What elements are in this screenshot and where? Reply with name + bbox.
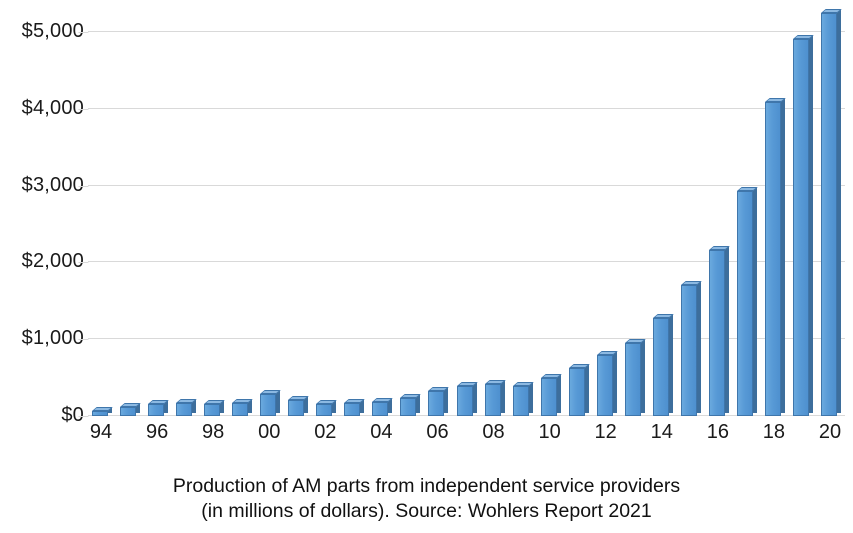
bar-side	[501, 381, 505, 413]
bar-face	[597, 355, 613, 416]
caption-line-2: (in millions of dollars). Source: Wohler…	[0, 499, 853, 524]
bar	[513, 381, 529, 416]
bar-face	[485, 384, 501, 416]
bar-face	[120, 407, 136, 416]
bar-face	[541, 378, 557, 416]
x-axis-tick-label: 98	[202, 420, 224, 444]
bar-series	[88, 8, 845, 418]
bar-face	[513, 386, 529, 416]
bar	[541, 373, 557, 416]
bar	[821, 8, 837, 416]
bar	[344, 398, 360, 416]
bar-face	[653, 318, 669, 416]
bar	[400, 393, 416, 416]
bar-face	[765, 102, 781, 416]
bar-face	[260, 394, 276, 416]
bar-side	[725, 247, 729, 413]
bar	[288, 395, 304, 416]
bar	[681, 280, 697, 416]
bar-face	[457, 386, 473, 416]
bar-side	[473, 383, 477, 413]
bar-side	[388, 399, 392, 413]
bar	[737, 186, 753, 416]
x-axis-tick-label: 12	[595, 420, 617, 444]
bar	[148, 399, 164, 416]
bar	[260, 389, 276, 416]
chart-figure: $0$1,000$2,000$3,000$4,000$5,000 9496980…	[0, 0, 853, 533]
bar-face	[428, 391, 444, 416]
bar-side	[641, 340, 645, 413]
bar	[793, 34, 809, 416]
caption-line-1: Production of AM parts from independent …	[0, 474, 853, 499]
bar-face	[709, 250, 725, 416]
bar	[485, 379, 501, 416]
bar	[204, 399, 220, 416]
bar-side	[416, 395, 420, 413]
bar	[597, 350, 613, 416]
x-axis-tick-label: 10	[538, 420, 560, 444]
x-axis-tick-label: 16	[707, 420, 729, 444]
x-axis-tick-label: 00	[258, 420, 280, 444]
bar-face	[793, 39, 809, 416]
x-axis-tick-label: 06	[426, 420, 448, 444]
bar	[457, 381, 473, 416]
x-axis-tick-label: 94	[90, 420, 112, 444]
x-axis-tick-label: 18	[763, 420, 785, 444]
bar	[709, 245, 725, 416]
bar-face	[737, 191, 753, 416]
bar-face	[372, 402, 388, 416]
bar-side	[360, 400, 364, 413]
chart-caption: Production of AM parts from independent …	[0, 474, 853, 524]
x-axis-tick-label: 14	[651, 420, 673, 444]
bar	[372, 397, 388, 416]
bar-side	[557, 375, 561, 413]
bar	[653, 313, 669, 416]
bar	[120, 402, 136, 416]
bar-side	[809, 36, 813, 413]
x-axis-tick-label: 20	[819, 420, 841, 444]
bar-face	[344, 403, 360, 416]
bar-side	[669, 315, 673, 413]
bar-side	[837, 10, 841, 413]
bar-face	[400, 398, 416, 416]
x-axis-tick-label: 04	[370, 420, 392, 444]
bar-face	[316, 404, 332, 416]
bar	[625, 338, 641, 416]
bar-side	[585, 365, 589, 413]
bar-side	[613, 352, 617, 413]
plot-area	[88, 8, 845, 418]
bar-side	[781, 99, 785, 413]
x-axis: 9496980002040608101214161820	[88, 420, 845, 454]
bar	[765, 97, 781, 416]
bar	[569, 363, 585, 416]
bar	[92, 406, 108, 416]
bar-side	[529, 383, 533, 413]
bar	[428, 386, 444, 416]
bar-side	[697, 282, 701, 413]
bar-side	[444, 388, 448, 413]
bar-face	[288, 400, 304, 416]
bar-face	[232, 403, 248, 416]
bar-face	[176, 403, 192, 416]
bar-face	[681, 285, 697, 416]
x-axis-tick-label: 02	[314, 420, 336, 444]
bar-face	[148, 404, 164, 416]
bar-face	[625, 343, 641, 416]
bar-face	[569, 368, 585, 416]
bar-side	[276, 391, 280, 413]
bar-side	[753, 188, 757, 413]
x-axis-tick-label: 08	[482, 420, 504, 444]
bar-face	[821, 13, 837, 416]
bar-side	[304, 397, 308, 413]
x-axis-tick-label: 96	[146, 420, 168, 444]
bar	[176, 398, 192, 416]
bar	[232, 398, 248, 416]
bar-face	[92, 411, 108, 416]
bar-face	[204, 404, 220, 416]
y-axis: $0$1,000$2,000$3,000$4,000$5,000	[0, 8, 84, 418]
bar	[316, 399, 332, 416]
